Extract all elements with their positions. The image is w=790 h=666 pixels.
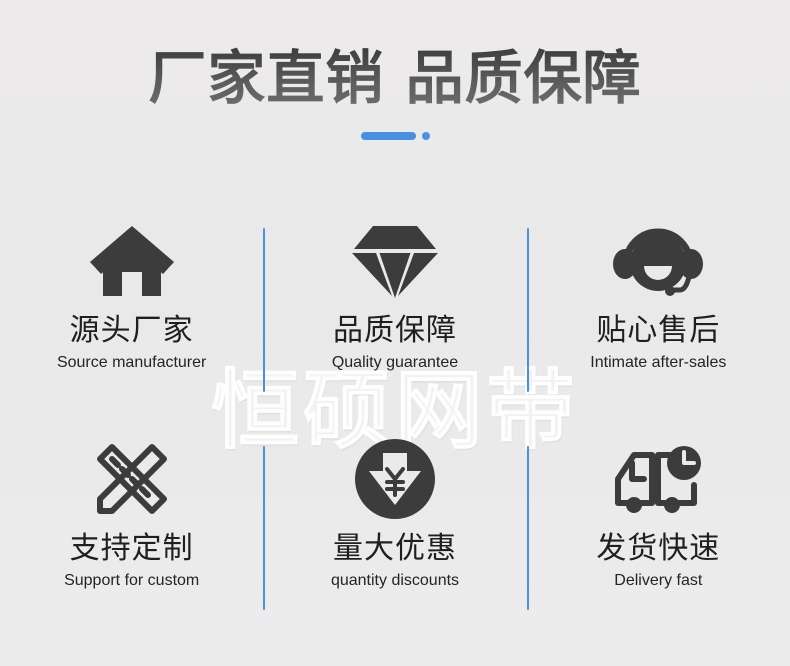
delivery-truck-clock-icon [610, 440, 706, 518]
accent-dot [422, 132, 430, 140]
feature-label-cn: 发货快速 [596, 532, 720, 565]
feature-grid: 源头厂家 Source manufacturer [0, 196, 790, 632]
pencil-ruler-icon [90, 440, 174, 518]
feature-item-after-sales: 贴心售后 Intimate after-sales [527, 196, 790, 414]
house-icon [86, 222, 178, 300]
feature-label-en: Delivery fast [614, 572, 702, 590]
feature-label-cn: 源头厂家 [70, 314, 194, 347]
feature-label-en: Intimate after-sales [590, 354, 726, 372]
feature-item-support-custom: 支持定制 Support for custom [0, 414, 263, 632]
price-down-yuan-icon [353, 440, 437, 518]
promo-banner: 恒硕网带 厂家直销 品质保障 源头厂家 Source manufacturer [0, 0, 790, 666]
feature-label-en: quantity discounts [331, 572, 459, 590]
accent-divider [0, 131, 790, 141]
banner-header: 厂家直销 品质保障 [0, 0, 790, 141]
diamond-icon [351, 222, 439, 300]
feature-item-quantity-discounts: 量大优惠 quantity discounts [263, 414, 526, 632]
feature-label-cn: 贴心售后 [596, 314, 720, 347]
feature-label-cn: 品质保障 [333, 314, 457, 347]
banner-headline: 厂家直销 品质保障 [0, 0, 790, 109]
feature-label-cn: 支持定制 [70, 532, 194, 565]
feature-label-en: Support for custom [64, 572, 199, 590]
feature-label-en: Source manufacturer [57, 354, 206, 372]
accent-bar [361, 132, 416, 140]
headset-support-icon [612, 222, 704, 300]
feature-label-cn: 量大优惠 [333, 532, 457, 565]
feature-row-bottom: 支持定制 Support for custom [0, 414, 790, 632]
feature-label-en: Quality guarantee [332, 354, 458, 372]
feature-item-quality-guarantee: 品质保障 Quality guarantee [263, 196, 526, 414]
feature-item-source-manufacturer: 源头厂家 Source manufacturer [0, 196, 263, 414]
feature-row-top: 源头厂家 Source manufacturer [0, 196, 790, 414]
feature-item-delivery-fast: 发货快速 Delivery fast [527, 414, 790, 632]
